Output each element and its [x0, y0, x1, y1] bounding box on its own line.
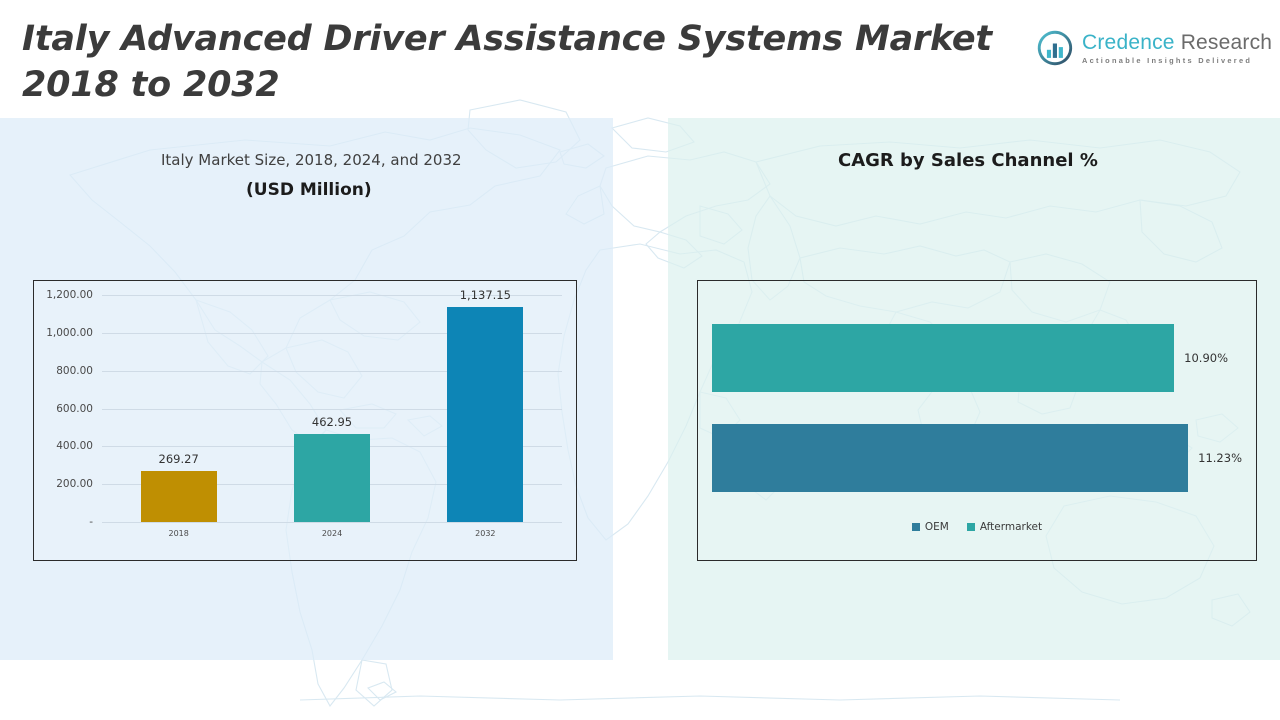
legend-label: Aftermarket — [980, 521, 1042, 533]
market-size-bar-chart: 1,200.001,000.00800.00600.00400.00200.00… — [33, 280, 577, 561]
legend-swatch — [912, 523, 920, 531]
y-axis-tick-label: 1,200.00 — [46, 289, 93, 301]
legend-item-oem[interactable]: OEM — [912, 521, 949, 533]
y-axis-tick-label: - — [89, 516, 93, 528]
x-axis-tick-label: 2032 — [475, 529, 495, 538]
bar-value-label: 462.95 — [312, 415, 352, 429]
y-axis-tick-label: 800.00 — [56, 365, 93, 377]
bar-value-label: 10.90% — [1184, 351, 1228, 365]
y-axis-tick-label: 400.00 — [56, 440, 93, 452]
infographic-canvas: Italy Advanced Driver Assistance Systems… — [0, 0, 1280, 720]
logo-tagline: Actionable Insights Delivered — [1082, 56, 1272, 65]
y-axis-tick-label: 200.00 — [56, 478, 93, 490]
logo-text: Credence Research Actionable Insights De… — [1082, 32, 1272, 65]
y-axis-tick-label: 1,000.00 — [46, 327, 93, 339]
bar-value-label: 1,137.15 — [460, 288, 511, 302]
bar-2032: 1,137.152032 — [447, 307, 523, 522]
x-axis-tick-label: 2024 — [322, 529, 342, 538]
page-title: Italy Advanced Driver Assistance Systems… — [22, 16, 1062, 108]
left-chart-title-line2: (USD Million) — [246, 180, 372, 200]
bar-2018: 269.272018 — [141, 471, 217, 522]
left-plot-area: 1,200.001,000.00800.00600.00400.00200.00… — [102, 295, 562, 522]
cagr-bar-chart: 10.90%11.23% OEMAftermarket — [697, 280, 1257, 561]
x-axis-tick-label: 2018 — [168, 529, 188, 538]
right-chart-title: CAGR by Sales Channel % — [838, 150, 1098, 171]
logo-name-research: Research — [1175, 31, 1273, 54]
right-plot-area: 10.90%11.23% — [712, 299, 1242, 504]
legend-item-aftermarket[interactable]: Aftermarket — [967, 521, 1042, 533]
bar-oem: 11.23% — [712, 424, 1188, 492]
legend-label: OEM — [925, 521, 949, 533]
header: Italy Advanced Driver Assistance Systems… — [0, 0, 1280, 118]
brand-logo[interactable]: Credence Research Actionable Insights De… — [1037, 24, 1269, 72]
cagr-legend: OEMAftermarket — [698, 521, 1256, 533]
bar-2024: 462.952024 — [294, 434, 370, 522]
legend-swatch — [967, 523, 975, 531]
gridline: - — [102, 522, 562, 523]
bar-value-label: 269.27 — [159, 452, 199, 466]
logo-name: Credence Research — [1082, 32, 1272, 54]
left-chart-title-line1: Italy Market Size, 2018, 2024, and 2032 — [161, 151, 462, 169]
y-axis-tick-label: 600.00 — [56, 403, 93, 415]
bar-aftermarket: 10.90% — [712, 324, 1174, 392]
logo-name-credence: Credence — [1082, 31, 1175, 54]
bar-value-label: 11.23% — [1198, 451, 1242, 465]
bar-chart-circle-icon — [1037, 30, 1073, 66]
